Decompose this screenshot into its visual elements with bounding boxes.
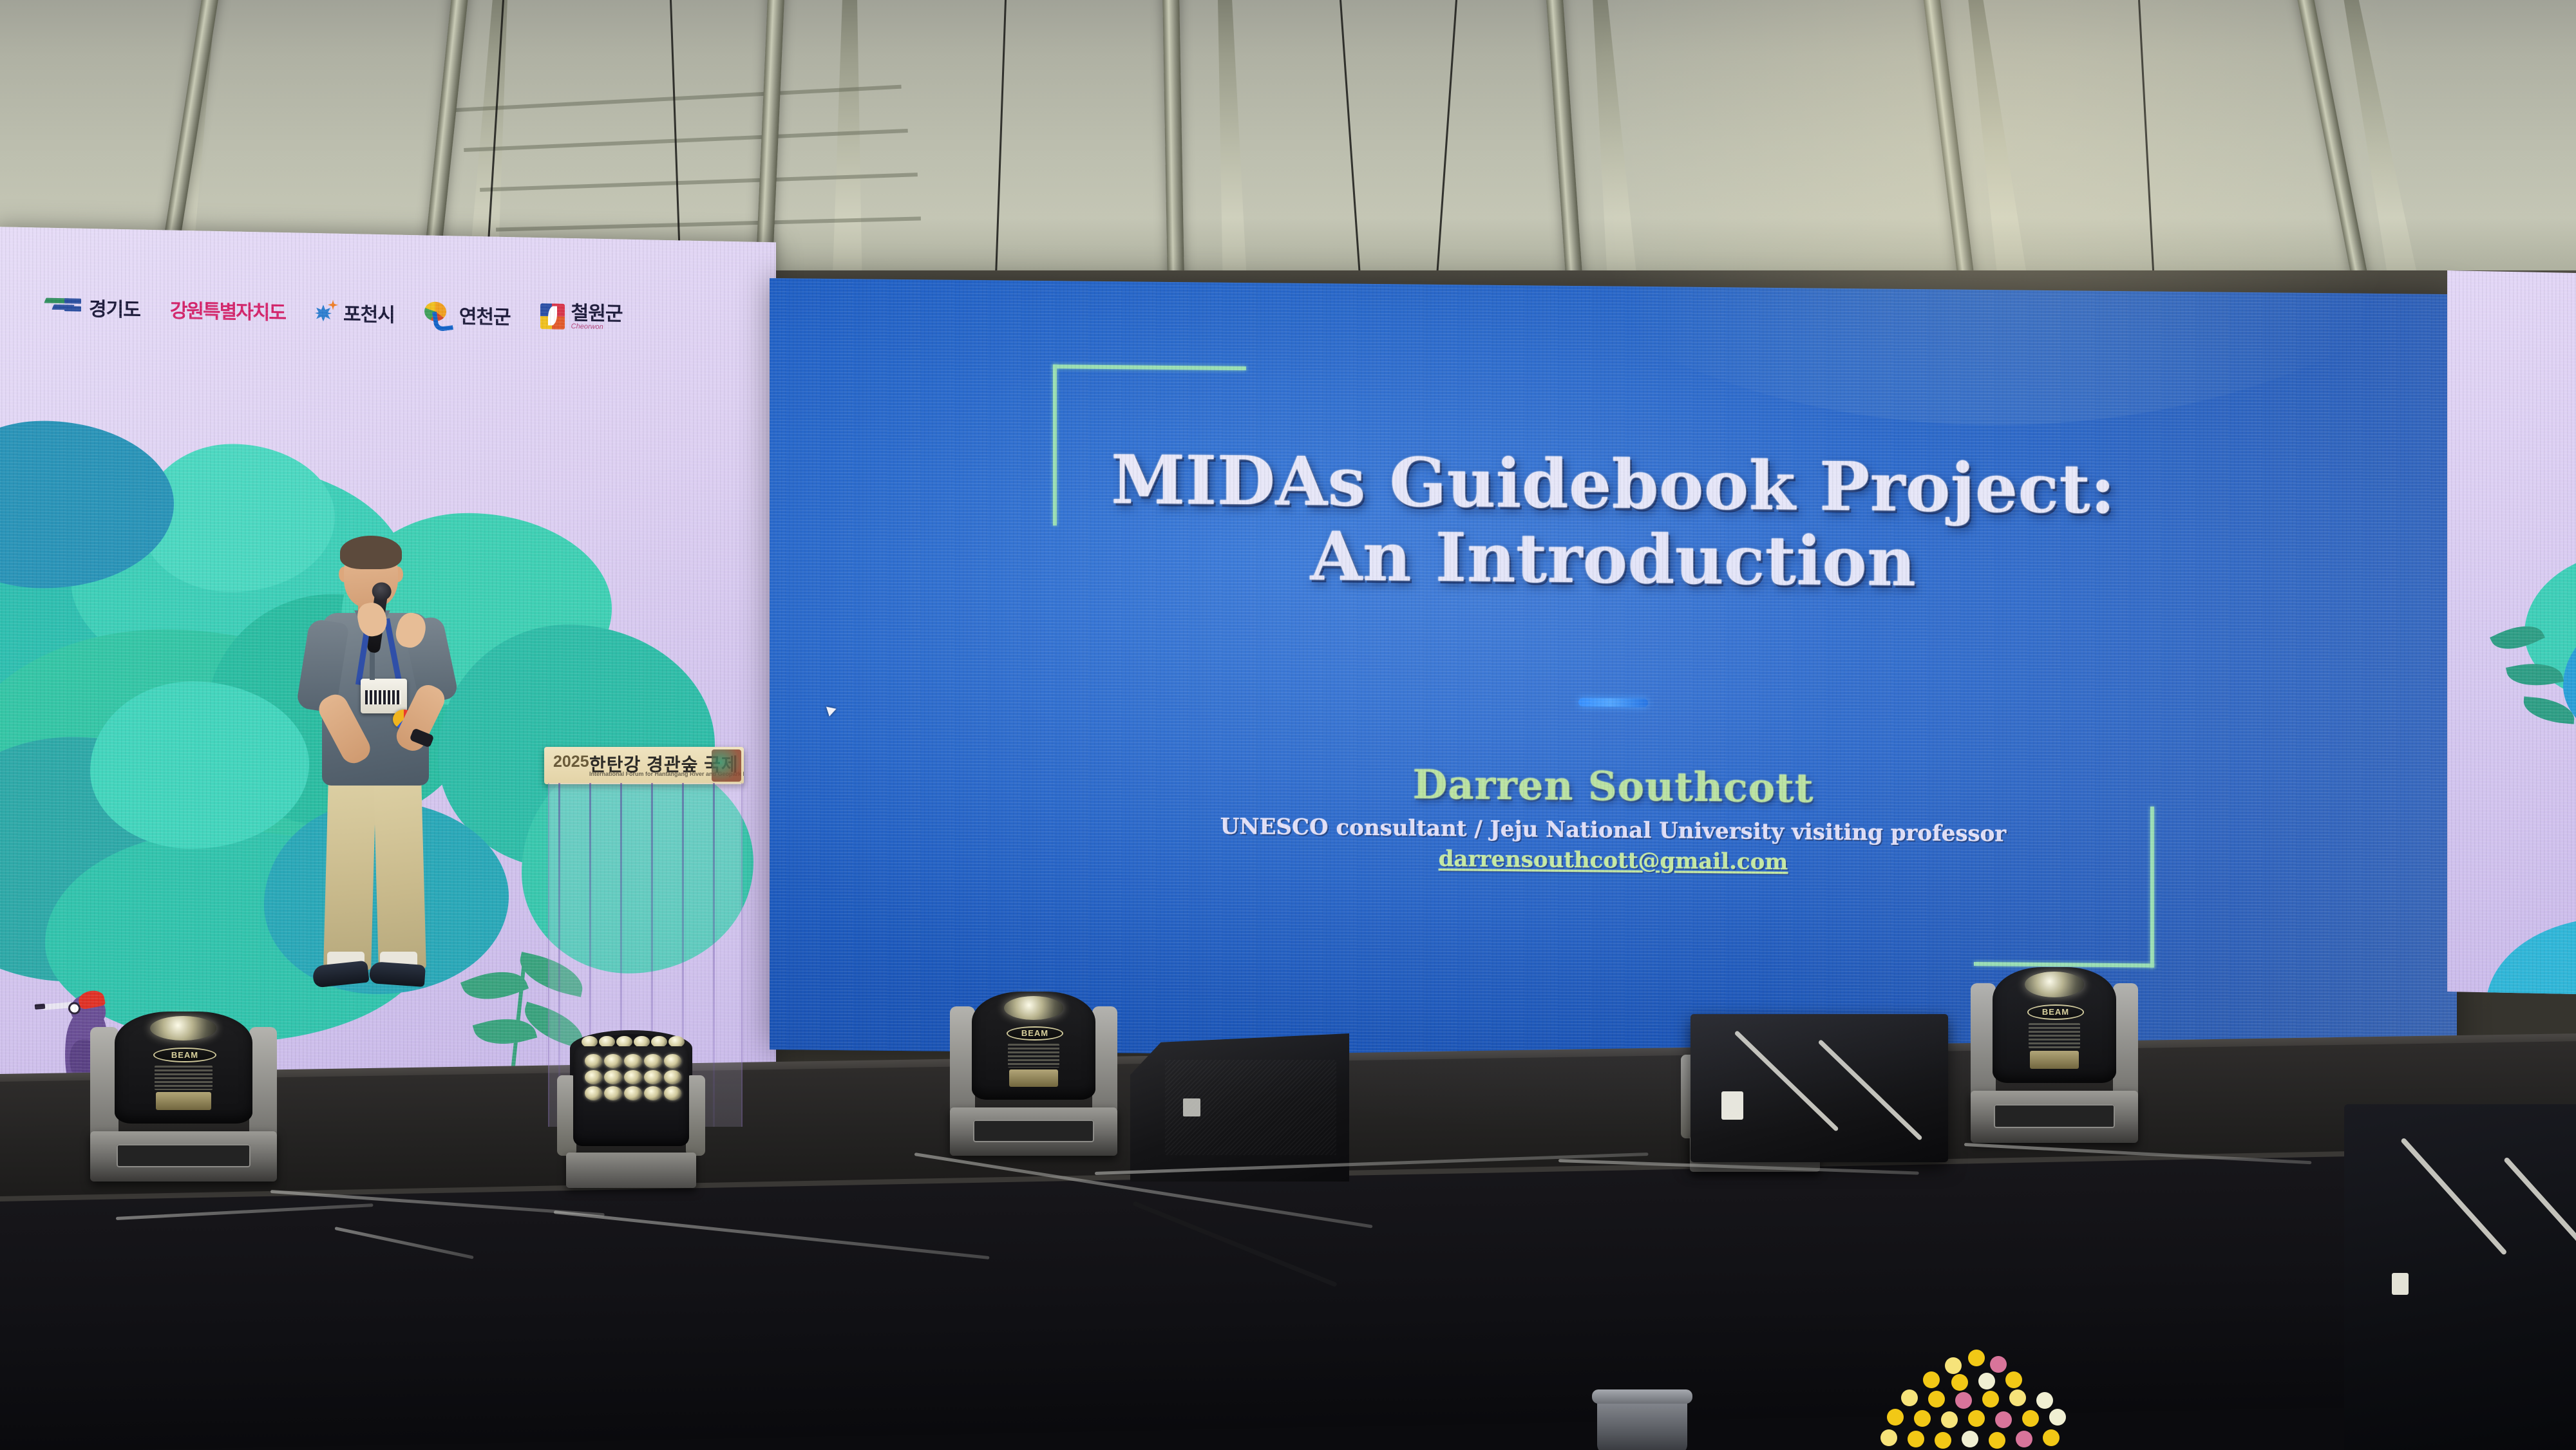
fixture-badge-label: BEAM xyxy=(2029,1006,2083,1019)
title-divider xyxy=(1578,698,1648,707)
led-wash-left xyxy=(557,1027,705,1188)
logo-label: 포천시 xyxy=(343,298,395,328)
snowflake-icon xyxy=(315,301,337,323)
logo-yeoncheon-gun: 연천군 xyxy=(424,299,511,330)
logo-label: 경기도 xyxy=(89,293,140,323)
slide-title: MIDAs Guidebook Project: An Introduction xyxy=(770,439,2457,605)
name-badge xyxy=(361,679,407,713)
presenter xyxy=(321,541,431,992)
shoe-left xyxy=(312,961,369,988)
conference-stage-photo: 경기도 강원특별자치도 포천시 연천군 xyxy=(0,0,2576,1450)
gyeonggi-mark-icon xyxy=(45,298,82,315)
moving-head-mid: BEAM xyxy=(950,969,1117,1156)
moving-head-left: BEAM xyxy=(90,988,277,1182)
banner-artwork xyxy=(712,749,741,782)
yeoncheon-mark-icon xyxy=(424,301,453,326)
cheorwon-mark-icon xyxy=(540,303,565,330)
banner-year: 2025 xyxy=(553,753,589,771)
logo-gangwon-state: 강원특별자치도 xyxy=(170,294,285,325)
main-presentation-screen: MIDAs Guidebook Project: An Introduction… xyxy=(770,278,2457,1066)
stage-vase xyxy=(1597,1396,1687,1450)
logo-label: 철원군 xyxy=(571,303,623,324)
stage-skirt xyxy=(0,1152,2576,1450)
logo-sublabel: Cheorwon xyxy=(571,323,623,331)
fixture-badge-label: BEAM xyxy=(155,1049,215,1061)
subwoofer-cabinet xyxy=(1690,1014,1948,1162)
right-led-screen xyxy=(2447,270,2576,996)
stage-monitor xyxy=(1130,1033,1349,1182)
logo-cheorwon-gun: 철원군 Cheorwon xyxy=(540,303,623,332)
moving-head-right: BEAM xyxy=(1971,943,2138,1143)
fixture-badge-label: BEAM xyxy=(1008,1028,1063,1040)
flower-arrangement xyxy=(1855,1344,2125,1450)
lectern-banner: 2025 한탄강 경관숲 국제 포럼 International Forum f… xyxy=(544,747,744,784)
logo-gyeonggi-do: 경기도 xyxy=(45,292,140,323)
logo-label: 강원특별자치도 xyxy=(170,294,285,325)
speaker-stack-foreground xyxy=(2344,1104,2576,1450)
shoe-right xyxy=(369,961,426,987)
sponsor-logo-strip: 경기도 강원특별자치도 포천시 연천군 xyxy=(45,292,622,332)
logo-pocheon-si: 포천시 xyxy=(315,297,395,327)
logo-label: 연천군 xyxy=(459,301,511,330)
